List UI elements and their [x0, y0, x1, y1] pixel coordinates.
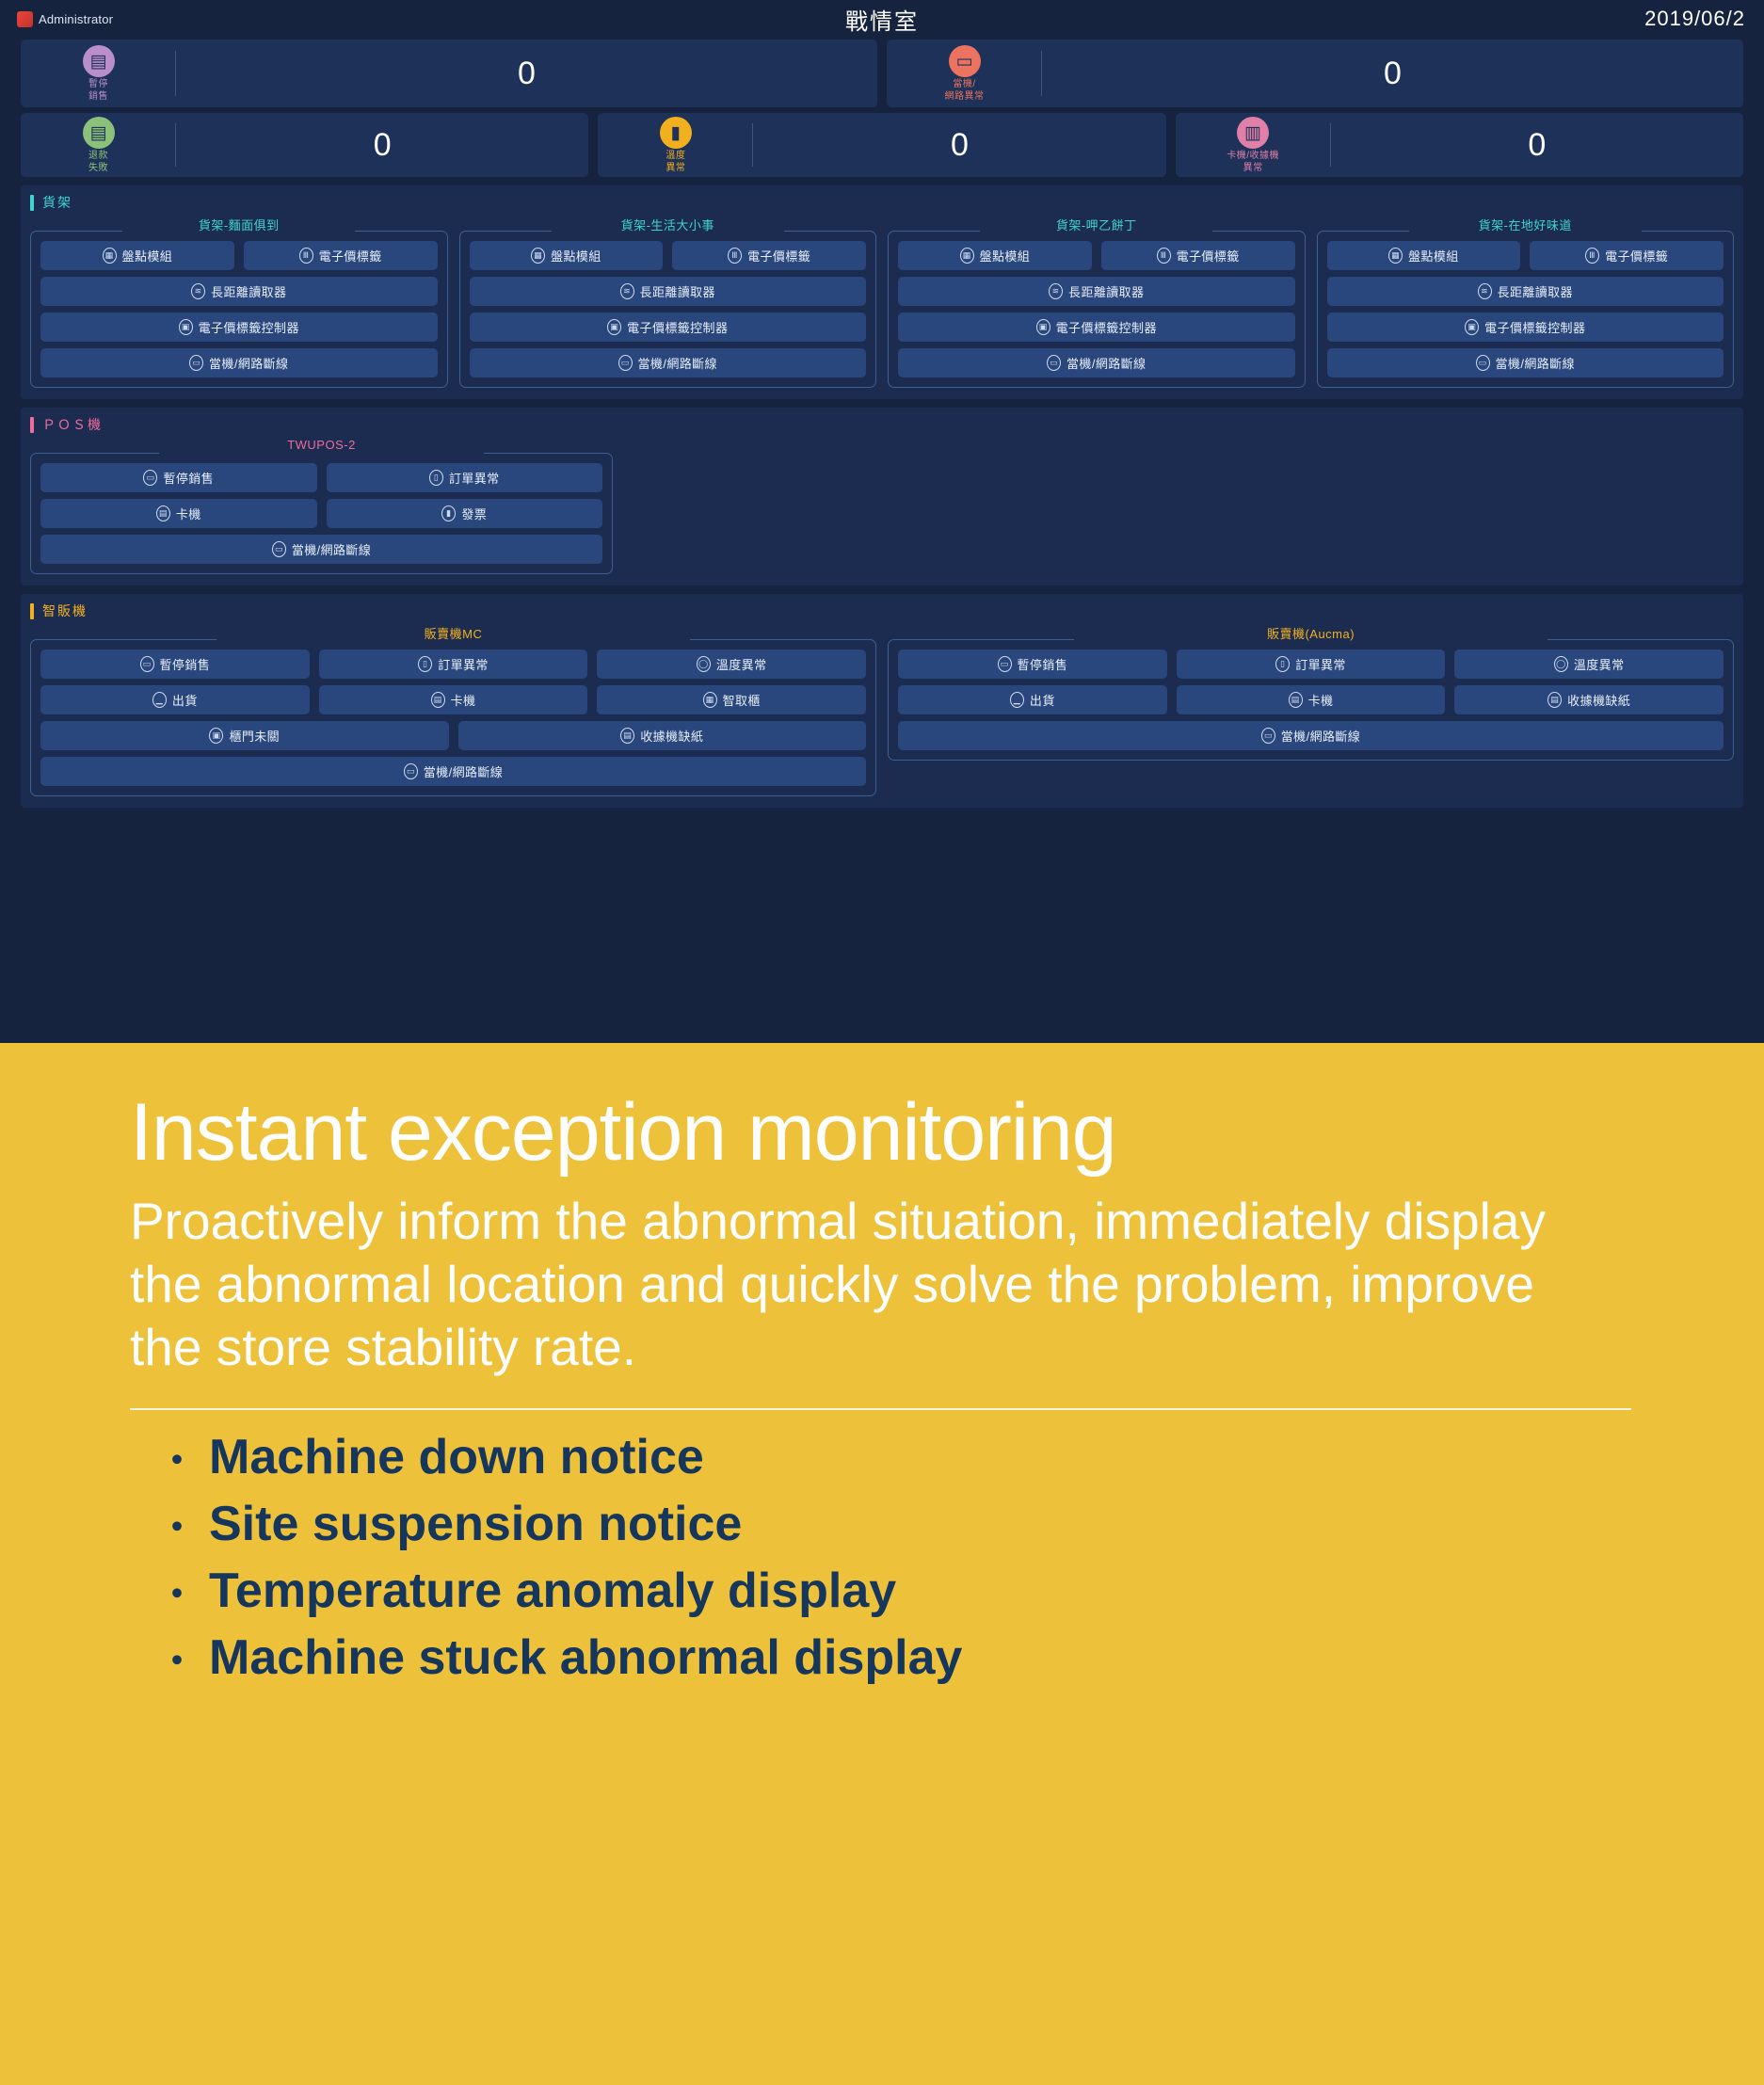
kpi-row-primary: ▤暫停銷售0▭當機/網路異常0 [11, 40, 1753, 107]
device-sections: 貨架貨架-麵面俱到▦盤點模組Ⅲ電子價標籤≋長距離讀取器▣電子價標籤控制器▭當機/… [11, 185, 1753, 808]
device-status-box: ▦盤點模組Ⅲ電子價標籤≋長距離讀取器▣電子價標籤控制器▭當機/網路斷線 [888, 231, 1306, 388]
monitor-down-icon: ▭ [1047, 355, 1061, 371]
kpi-value: 0 [176, 127, 588, 164]
device-grid: TWUPOS-2▭暫停銷售▯訂單異常▤卡機▮發票▭當機/網路斷線 [30, 438, 1734, 574]
status-button-label: 盤點模組 [1408, 247, 1459, 265]
inventory-module-icon: ▦ [1388, 248, 1403, 264]
device-grid: 貨架-麵面俱到▦盤點模組Ⅲ電子價標籤≋長距離讀取器▣電子價標籤控制器▭當機/網路… [30, 216, 1734, 388]
order-error-icon: ▯ [429, 470, 443, 486]
status-button-label: 收據機缺紙 [640, 727, 703, 745]
wifi-reader-icon: ≋ [1478, 283, 1492, 299]
status-button[interactable]: Ⅲ電子價標籤 [1101, 241, 1295, 270]
device-name: 貨架-呷乙餅丁 [888, 216, 1306, 233]
status-button-label: 發票 [461, 505, 487, 522]
status-button[interactable]: ≋長距離讀取器 [898, 277, 1295, 306]
status-button[interactable]: ▯訂單異常 [319, 650, 588, 679]
status-button-row: ▦盤點模組Ⅲ電子價標籤 [898, 241, 1295, 270]
status-button-row: ▭當機/網路斷線 [40, 348, 438, 377]
status-button-row: ≋長距離讀取器 [40, 277, 438, 306]
status-button-label: 暫停銷售 [160, 655, 211, 673]
status-button[interactable]: ▣電子價標籤控制器 [898, 313, 1295, 342]
shipment-icon: ▁ [1010, 692, 1024, 708]
status-button-label: 電子價標籤控制器 [1484, 318, 1585, 336]
device-card: 販賣機(Aucma)▭暫停銷售▯訂單異常◯溫度異常▁出貨▤卡機▤收據機缺紙▭當機… [888, 624, 1734, 796]
monitor-down-icon: ▭ [143, 470, 157, 486]
kpi-label-line1: 卡機/收據機 [1227, 151, 1279, 161]
kpi-card[interactable]: ▭當機/網路異常0 [887, 40, 1743, 107]
status-button-row: ▦盤點模組Ⅲ電子價標籤 [470, 241, 867, 270]
esl-controller-icon: ▣ [1036, 319, 1050, 335]
monitor-down-icon: ▭ [140, 656, 154, 672]
status-button-row: ≋長距離讀取器 [1327, 277, 1724, 306]
kpi-label-line2: 異常 [1243, 163, 1263, 173]
status-button-label: 卡機 [451, 691, 476, 709]
status-button-label: 櫃門未關 [229, 727, 280, 745]
status-button-row: ▭當機/網路斷線 [40, 757, 866, 786]
admin-label: Administrator [39, 12, 113, 26]
kpi-row-secondary: ▤退款失敗0▮溫度異常0▥卡機/收據機異常0 [11, 113, 1753, 177]
wifi-reader-icon: ≋ [191, 283, 205, 299]
smart-locker-icon: ▦ [703, 692, 717, 708]
monitor-down-icon: ▭ [618, 355, 633, 371]
status-button-label: 溫度異常 [716, 655, 767, 673]
kpi-card[interactable]: ▮溫度異常0 [598, 113, 1165, 177]
status-button-label: 訂單異常 [1295, 655, 1346, 673]
status-button-label: 訂單異常 [449, 469, 500, 487]
shelf-pause-icon: ▤ [83, 45, 115, 77]
price-tag-icon: Ⅲ [1585, 248, 1599, 264]
device-card: 貨架-生活大小事▦盤點模組Ⅲ電子價標籤≋長距離讀取器▣電子價標籤控制器▭當機/網… [459, 216, 877, 388]
status-button-row: ▣電子價標籤控制器 [470, 313, 867, 342]
section-header: 貨架 [30, 193, 1734, 212]
status-button-label: 出貨 [172, 691, 198, 709]
order-error-icon: ▯ [418, 656, 432, 672]
app-topbar: Administrator 戰情室 2019/06/2 [11, 0, 1753, 38]
admin-account[interactable]: Administrator [11, 11, 322, 27]
status-button-row: ≋長距離讀取器 [470, 277, 867, 306]
kpi-card[interactable]: ▤暫停銷售0 [21, 40, 877, 107]
bullet-icon: ・ [158, 1576, 196, 1613]
app-logo-icon [17, 11, 33, 27]
promo-feature-label: Site suspension notice [209, 1494, 742, 1555]
status-button[interactable]: ▭當機/網路斷線 [898, 721, 1724, 750]
status-button-row: ▣電子價標籤控制器 [40, 313, 438, 342]
status-button[interactable]: ▣電子價標籤控制器 [470, 313, 867, 342]
status-button-label: 溫度異常 [1574, 655, 1625, 673]
card-reader-icon: ▤ [431, 692, 445, 708]
status-button[interactable]: ▁出貨 [40, 685, 310, 714]
status-button[interactable]: ▤收據機缺紙 [458, 721, 867, 750]
card-reader-icon: ▤ [156, 505, 170, 521]
page-title: 戰情室 [322, 3, 1442, 36]
section-header: ＰＯＳ機 [30, 415, 1734, 434]
status-button-label: 電子價標籤控制器 [199, 318, 299, 336]
card-printer-icon: ▥ [1237, 117, 1269, 149]
kpi-icon-group: ▤暫停銷售 [21, 40, 176, 107]
status-button[interactable]: Ⅲ電子價標籤 [672, 241, 866, 270]
esl-controller-icon: ▣ [607, 319, 621, 335]
current-date: 2019/06/2 [1442, 7, 1753, 31]
status-button[interactable]: ▭當機/網路斷線 [470, 348, 867, 377]
status-button[interactable]: ▁出貨 [898, 685, 1167, 714]
bullet-icon: ・ [158, 1509, 196, 1547]
order-error-icon: ▯ [1275, 656, 1290, 672]
promo-divider [130, 1408, 1631, 1410]
kpi-icon-group: ▤退款失敗 [21, 113, 176, 177]
device-card: 貨架-呷乙餅丁▦盤點模組Ⅲ電子價標籤≋長距離讀取器▣電子價標籤控制器▭當機/網路… [888, 216, 1306, 388]
status-button[interactable]: ▦盤點模組 [1327, 241, 1521, 270]
status-button[interactable]: ▭當機/網路斷線 [898, 348, 1295, 377]
status-button[interactable]: ▤卡機 [1177, 685, 1446, 714]
status-button[interactable]: ▦盤點模組 [898, 241, 1092, 270]
kpi-icon-group: ▭當機/網路異常 [887, 40, 1042, 107]
kpi-label-line2: 異常 [666, 163, 685, 173]
status-button-label: 暫停銷售 [163, 469, 214, 487]
kpi-label-line1: 當機/ [953, 79, 975, 89]
kpi-card[interactable]: ▤退款失敗0 [21, 113, 588, 177]
status-button-row: ▣電子價標籤控制器 [1327, 313, 1724, 342]
device-name: 販賣機MC [30, 624, 876, 642]
bullet-icon: ・ [158, 1442, 196, 1480]
section-pos: ＰＯＳ機TWUPOS-2▭暫停銷售▯訂單異常▤卡機▮發票▭當機/網路斷線 [21, 408, 1743, 585]
status-button[interactable]: ▤卡機 [40, 499, 317, 528]
status-button-label: 卡機 [176, 505, 201, 522]
device-name: 貨架-生活大小事 [459, 216, 877, 233]
cabinet-door-icon: ▣ [209, 728, 223, 744]
promo-heading: Instant exception monitoring [130, 1090, 1674, 1175]
kpi-icon-group: ▥卡機/收據機異常 [1176, 113, 1331, 177]
status-button-label: 電子價標籤 [319, 247, 382, 265]
status-button-label: 當機/網路斷線 [1066, 354, 1146, 372]
status-button-label: 當機/網路斷線 [1281, 727, 1360, 745]
status-button-label: 出貨 [1030, 691, 1055, 709]
status-button-label: 長距離讀取器 [1068, 282, 1144, 300]
promo-feature-item: ・Site suspension notice [158, 1494, 1674, 1555]
status-button-row: ▤卡機▮發票 [40, 499, 602, 528]
promo-feature-item: ・Temperature anomaly display [158, 1561, 1674, 1622]
wifi-reader-icon: ≋ [620, 283, 634, 299]
status-button-row: ▦盤點模組Ⅲ電子價標籤 [1327, 241, 1724, 270]
inventory-module-icon: ▦ [531, 248, 545, 264]
status-button-label: 長距離讀取器 [640, 282, 715, 300]
device-name: 貨架-麵面俱到 [30, 216, 448, 233]
invoice-icon: ▮ [441, 505, 456, 521]
shipment-icon: ▁ [152, 692, 167, 708]
status-button-label: 當機/網路斷線 [424, 762, 503, 780]
status-button-label: 長距離讀取器 [1498, 282, 1573, 300]
wifi-reader-icon: ≋ [1049, 283, 1063, 299]
promo-feature-list: ・Machine down notice・Site suspension not… [130, 1427, 1674, 1689]
price-tag-icon: Ⅲ [728, 248, 742, 264]
status-button[interactable]: ▦智取櫃 [597, 685, 866, 714]
status-button-row: ▭暫停銷售▯訂單異常 [40, 463, 602, 492]
status-button[interactable]: ▤卡機 [319, 685, 588, 714]
price-tag-icon: Ⅲ [1157, 248, 1171, 264]
status-button-row: ▭暫停銷售▯訂單異常◯溫度異常 [898, 650, 1724, 679]
device-status-box: ▦盤點模組Ⅲ電子價標籤≋長距離讀取器▣電子價標籤控制器▭當機/網路斷線 [30, 231, 448, 388]
status-button[interactable]: ▭暫停銷售 [898, 650, 1167, 679]
device-name: 貨架-在地好味道 [1317, 216, 1735, 233]
status-button-label: 智取櫃 [723, 691, 761, 709]
inventory-module-icon: ▦ [960, 248, 974, 264]
status-button[interactable]: ▣電子價標籤控制器 [1327, 313, 1724, 342]
status-button[interactable]: ▭暫停銷售 [40, 650, 310, 679]
dashboard-screenshot: Administrator 戰情室 2019/06/2 ▤暫停銷售0▭當機/網路… [0, 0, 1764, 1092]
status-button-row: ▭當機/網路斷線 [898, 721, 1724, 750]
device-name: 販賣機(Aucma) [888, 624, 1734, 642]
promo-banner: Instant exception monitoring Proactively… [0, 1043, 1764, 2085]
section-title: ＰＯＳ機 [42, 415, 103, 434]
section-accent-bar [30, 417, 34, 433]
promo-paragraph: Proactively inform the abnormal situatio… [130, 1190, 1617, 1379]
receipt-paper-icon: ▤ [1548, 692, 1562, 708]
status-button-label: 盤點模組 [980, 247, 1031, 265]
status-button-row: ▭當機/網路斷線 [1327, 348, 1724, 377]
section-vending: 智販機販賣機MC▭暫停銷售▯訂單異常◯溫度異常▁出貨▤卡機▦智取櫃▣櫃門未關▤收… [21, 594, 1743, 808]
kpi-label-line2: 網路異常 [945, 91, 985, 102]
esl-controller-icon: ▣ [1465, 319, 1479, 335]
section-title: 貨架 [42, 193, 72, 212]
kpi-value: 0 [176, 56, 877, 92]
status-button-label: 暫停銷售 [1018, 655, 1068, 673]
price-tag-icon: Ⅲ [299, 248, 313, 264]
clipboard-refund-icon: ▤ [83, 117, 115, 149]
status-button[interactable]: ≋長距離讀取器 [1327, 277, 1724, 306]
device-card: TWUPOS-2▭暫停銷售▯訂單異常▤卡機▮發票▭當機/網路斷線 [30, 438, 613, 574]
status-button[interactable]: ▯訂單異常 [327, 463, 603, 492]
status-button-label: 卡機 [1308, 691, 1334, 709]
device-status-box: ▦盤點模組Ⅲ電子價標籤≋長距離讀取器▣電子價標籤控制器▭當機/網路斷線 [459, 231, 877, 388]
status-button[interactable]: ▤收據機缺紙 [1454, 685, 1724, 714]
status-button-label: 電子價標籤控制器 [627, 318, 728, 336]
status-button[interactable]: ▦盤點模組 [470, 241, 664, 270]
status-button-row: ▣電子價標籤控制器 [898, 313, 1295, 342]
status-button[interactable]: ▭暫停銷售 [40, 463, 317, 492]
monitor-down-icon: ▭ [949, 45, 981, 77]
kpi-card[interactable]: ▥卡機/收據機異常0 [1176, 113, 1743, 177]
kpi-value: 0 [1331, 127, 1743, 164]
monitor-down-icon: ▭ [1261, 728, 1275, 744]
section-title: 智販機 [42, 601, 88, 620]
device-status-box: ▭暫停銷售▯訂單異常▤卡機▮發票▭當機/網路斷線 [30, 453, 613, 574]
promo-feature-item: ・Machine stuck abnormal display [158, 1628, 1674, 1689]
monitor-down-icon: ▭ [404, 763, 418, 779]
section-header: 智販機 [30, 601, 1734, 620]
status-button-label: 電子價標籤 [1177, 247, 1240, 265]
status-button[interactable]: ▦盤點模組 [40, 241, 234, 270]
monitor-down-icon: ▭ [998, 656, 1012, 672]
status-button-label: 當機/網路斷線 [1496, 354, 1575, 372]
status-button[interactable]: ▭當機/網路斷線 [40, 757, 866, 786]
device-name: TWUPOS-2 [30, 438, 613, 452]
device-status-box: ▦盤點模組Ⅲ電子價標籤≋長距離讀取器▣電子價標籤控制器▭當機/網路斷線 [1317, 231, 1735, 388]
status-button-row: ≋長距離讀取器 [898, 277, 1295, 306]
device-card: 販賣機MC▭暫停銷售▯訂單異常◯溫度異常▁出貨▤卡機▦智取櫃▣櫃門未關▤收據機缺… [30, 624, 876, 796]
esl-controller-icon: ▣ [179, 319, 193, 335]
status-button-label: 電子價標籤 [1605, 247, 1668, 265]
status-button-row: ▁出貨▤卡機▦智取櫃 [40, 685, 866, 714]
inventory-module-icon: ▦ [103, 248, 117, 264]
section-accent-bar [30, 603, 34, 619]
promo-feature-item: ・Machine down notice [158, 1427, 1674, 1488]
status-button-label: 當機/網路斷線 [292, 540, 371, 558]
status-button-label: 電子價標籤控制器 [1056, 318, 1157, 336]
status-button[interactable]: ▮發票 [327, 499, 603, 528]
status-button[interactable]: ▭當機/網路斷線 [40, 348, 438, 377]
device-grid: 販賣機MC▭暫停銷售▯訂單異常◯溫度異常▁出貨▤卡機▦智取櫃▣櫃門未關▤收據機缺… [30, 624, 1734, 796]
status-button[interactable]: ◯溫度異常 [1454, 650, 1724, 679]
monitor-down-icon: ▭ [189, 355, 203, 371]
status-button-row: ▦盤點模組Ⅲ電子價標籤 [40, 241, 438, 270]
status-button-label: 當機/網路斷線 [209, 354, 288, 372]
thermometer-icon: ▮ [660, 117, 692, 149]
device-card: 貨架-在地好味道▦盤點模組Ⅲ電子價標籤≋長距離讀取器▣電子價標籤控制器▭當機/網… [1317, 216, 1735, 388]
status-button[interactable]: ≋長距離讀取器 [470, 277, 867, 306]
status-button[interactable]: ≋長距離讀取器 [40, 277, 438, 306]
kpi-label-line2: 失敗 [88, 163, 108, 173]
promo-feature-label: Temperature anomaly display [209, 1561, 896, 1622]
temperature-gauge-icon: ◯ [1554, 656, 1568, 672]
status-button-row: ▭暫停銷售▯訂單異常◯溫度異常 [40, 650, 866, 679]
status-button-label: 盤點模組 [122, 247, 173, 265]
status-button-label: 訂單異常 [438, 655, 489, 673]
kpi-value: 0 [753, 127, 1165, 164]
status-button-label: 長距離讀取器 [211, 282, 286, 300]
kpi-label-line1: 暫停 [88, 79, 108, 89]
status-button[interactable]: Ⅲ電子價標籤 [1530, 241, 1724, 270]
status-button[interactable]: ▭當機/網路斷線 [40, 535, 602, 564]
status-button-label: 電子價標籤 [747, 247, 810, 265]
receipt-paper-icon: ▤ [620, 728, 634, 744]
section-shelf: 貨架貨架-麵面俱到▦盤點模組Ⅲ電子價標籤≋長距離讀取器▣電子價標籤控制器▭當機/… [21, 185, 1743, 399]
device-card: 貨架-麵面俱到▦盤點模組Ⅲ電子價標籤≋長距離讀取器▣電子價標籤控制器▭當機/網路… [30, 216, 448, 388]
promo-feature-label: Machine down notice [209, 1427, 704, 1488]
status-button-row: ▁出貨▤卡機▤收據機缺紙 [898, 685, 1724, 714]
status-button[interactable]: ▣電子價標籤控制器 [40, 313, 438, 342]
temperature-gauge-icon: ◯ [697, 656, 711, 672]
status-button[interactable]: ◯溫度異常 [597, 650, 866, 679]
monitor-down-icon: ▭ [272, 541, 286, 557]
device-status-box: ▭暫停銷售▯訂單異常◯溫度異常▁出貨▤卡機▤收據機缺紙▭當機/網路斷線 [888, 639, 1734, 761]
status-button-row: ▣櫃門未關▤收據機缺紙 [40, 721, 866, 750]
kpi-label-line1: 溫度 [666, 151, 685, 161]
promo-feature-label: Machine stuck abnormal display [209, 1628, 962, 1689]
section-accent-bar [30, 195, 34, 211]
card-reader-icon: ▤ [1289, 692, 1303, 708]
kpi-label-line2: 銷售 [88, 91, 108, 102]
status-button-label: 收據機缺紙 [1567, 691, 1630, 709]
status-button-label: 盤點模組 [551, 247, 601, 265]
status-button-label: 當機/網路斷線 [638, 354, 717, 372]
status-button-row: ▭當機/網路斷線 [470, 348, 867, 377]
kpi-value: 0 [1042, 56, 1743, 92]
status-button[interactable]: Ⅲ電子價標籤 [244, 241, 438, 270]
monitor-down-icon: ▭ [1476, 355, 1490, 371]
status-button-row: ▭當機/網路斷線 [898, 348, 1295, 377]
bullet-icon: ・ [158, 1643, 196, 1680]
kpi-icon-group: ▮溫度異常 [598, 113, 753, 177]
status-button[interactable]: ▭當機/網路斷線 [1327, 348, 1724, 377]
device-status-box: ▭暫停銷售▯訂單異常◯溫度異常▁出貨▤卡機▦智取櫃▣櫃門未關▤收據機缺紙▭當機/… [30, 639, 876, 796]
status-button[interactable]: ▣櫃門未關 [40, 721, 449, 750]
kpi-label-line1: 退款 [88, 151, 108, 161]
status-button-row: ▭當機/網路斷線 [40, 535, 602, 564]
status-button[interactable]: ▯訂單異常 [1177, 650, 1446, 679]
